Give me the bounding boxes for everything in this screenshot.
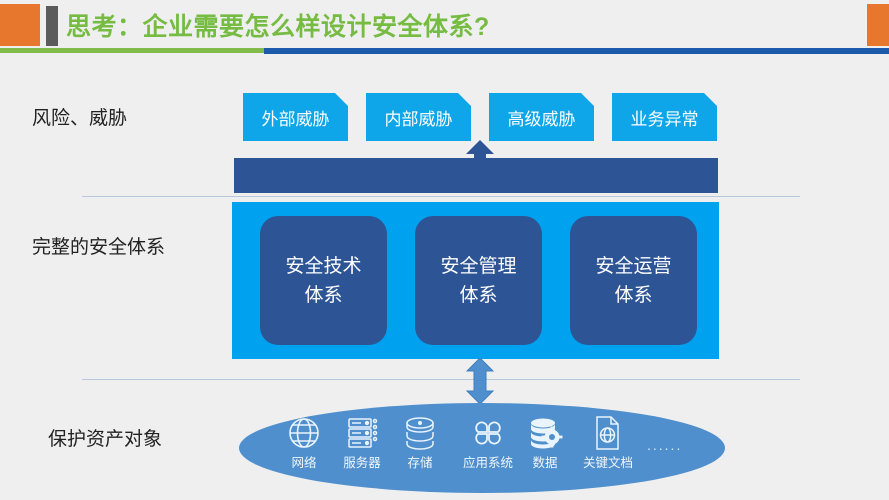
system-box-line1: 安全运营 (595, 256, 671, 277)
header-rule-green (0, 48, 268, 53)
header-orange-block-left (0, 4, 40, 46)
header-rule-blue (264, 48, 889, 54)
asset-label: 数据 (519, 452, 571, 471)
system-box-line2: 体系 (614, 285, 652, 306)
row-label-assets: 保护资产对象 (48, 424, 162, 451)
divider-lower (82, 379, 800, 380)
database-gear-icon (519, 415, 571, 451)
asset-label: 服务器 (333, 452, 391, 471)
threat-box-business-anomaly[interactable]: 业务异常 (612, 93, 717, 141)
asset-label: 关键文档 (575, 452, 641, 471)
row-label-system: 完整的安全体系 (32, 232, 165, 259)
threat-label: 业务异常 (631, 105, 699, 130)
header-gray-bar (46, 6, 58, 46)
asset-item-data[interactable]: 数据 (519, 415, 571, 471)
slide-header: 思考：企业需要怎么样设计安全体系? (0, 0, 889, 55)
threat-label: 内部威胁 (385, 105, 453, 130)
asset-item-network[interactable]: 网络 (275, 415, 333, 471)
asset-icon-row: 网络 服务器 (275, 415, 695, 483)
document-globe-icon (575, 415, 641, 451)
asset-label: 存储 (391, 452, 449, 471)
header-orange-block-right (867, 4, 889, 46)
divider-upper (82, 196, 800, 197)
row-label-risk: 风险、威胁 (32, 103, 127, 130)
defense-bar (234, 158, 718, 193)
threat-box-external[interactable]: 外部威胁 (243, 93, 348, 141)
page-title: 思考：企业需要怎么样设计安全体系? (66, 11, 490, 43)
asset-item-key-document[interactable]: 关键文档 (575, 415, 641, 471)
server-icon (333, 415, 391, 451)
asset-item-storage[interactable]: 存储 (391, 415, 449, 471)
app-petals-icon (457, 415, 519, 451)
system-box-management[interactable]: 安全管理 体系 (415, 216, 542, 345)
system-box-line2: 体系 (459, 285, 497, 306)
threat-box-advanced[interactable]: 高级威胁 (489, 93, 594, 141)
system-box-line1: 安全管理 (440, 256, 516, 277)
system-box-operations[interactable]: 安全运营 体系 (570, 216, 697, 345)
threat-box-internal[interactable]: 内部威胁 (366, 93, 471, 141)
asset-item-server[interactable]: 服务器 (333, 415, 391, 471)
system-box-technology[interactable]: 安全技术 体系 (260, 216, 387, 345)
arrow-up-down-icon (461, 358, 499, 404)
storage-disks-icon (391, 415, 449, 451)
asset-label: 应用系统 (457, 452, 519, 471)
globe-icon (275, 415, 333, 451)
system-box-line1: 安全技术 (285, 256, 361, 277)
threat-label: 外部威胁 (262, 105, 330, 130)
threat-label: 高级威胁 (508, 105, 576, 130)
asset-label: 网络 (275, 452, 333, 471)
asset-ellipsis: ...... (647, 437, 682, 453)
asset-item-application[interactable]: 应用系统 (457, 415, 519, 471)
system-box-line2: 体系 (304, 285, 342, 306)
